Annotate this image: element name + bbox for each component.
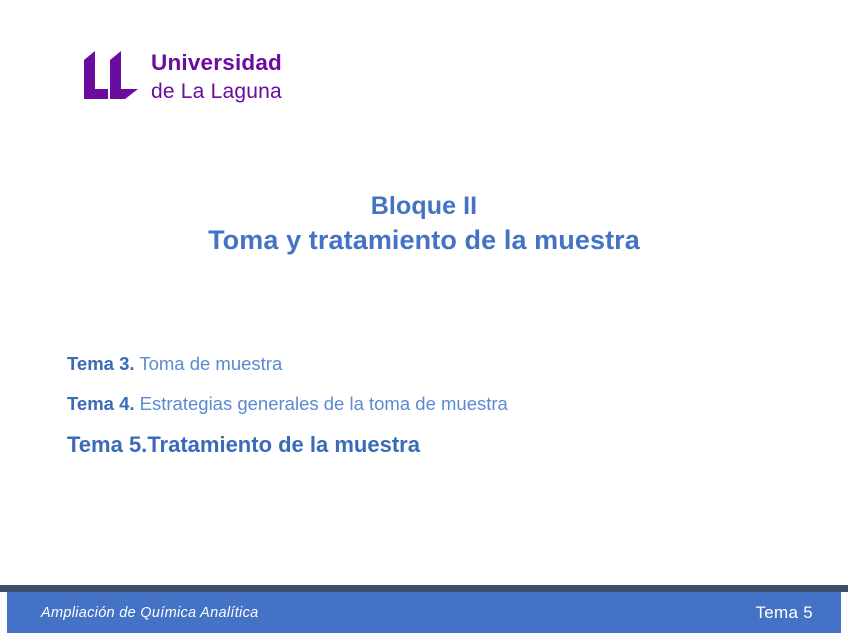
topic-title-label: Estrategias generales de la toma de mues… (135, 393, 508, 414)
footer-bar: Ampliación de Química Analítica Tema 5 (7, 592, 841, 633)
topic-number-label: Tema 3. (67, 353, 135, 374)
list-item: Tema 3. Toma de muestra (67, 355, 787, 374)
slide-canvas: Universidad de La Laguna Bloque II Toma … (0, 0, 848, 636)
topic-title-label: Toma de muestra (135, 353, 283, 374)
topic-number-label: Tema 5. (67, 432, 147, 457)
university-logo: Universidad de La Laguna (84, 51, 282, 102)
topic-number-label: Tema 4. (67, 393, 135, 414)
list-item: Tema 4. Estrategias generales de la toma… (67, 395, 787, 414)
slide-title: Bloque II Toma y tratamiento de la muest… (0, 192, 848, 258)
university-name-line2: de La Laguna (151, 81, 282, 102)
list-item: Tema 5.Tratamiento de la muestra (67, 434, 787, 456)
ull-double-l-mark-icon (84, 51, 138, 99)
title-subject-label: Toma y tratamiento de la muestra (0, 222, 848, 258)
footer-divider (0, 585, 848, 592)
university-logo-wordmark: Universidad de La Laguna (151, 51, 282, 102)
footer-topic-label: Tema 5 (755, 603, 813, 623)
footer-course-label: Ampliación de Química Analítica (41, 605, 259, 621)
topic-title-label: Tratamiento de la muestra (147, 432, 420, 457)
university-name-line1: Universidad (151, 52, 282, 75)
title-block-label: Bloque II (0, 192, 848, 222)
topic-list: Tema 3. Toma de muestra Tema 4. Estrateg… (67, 355, 787, 456)
